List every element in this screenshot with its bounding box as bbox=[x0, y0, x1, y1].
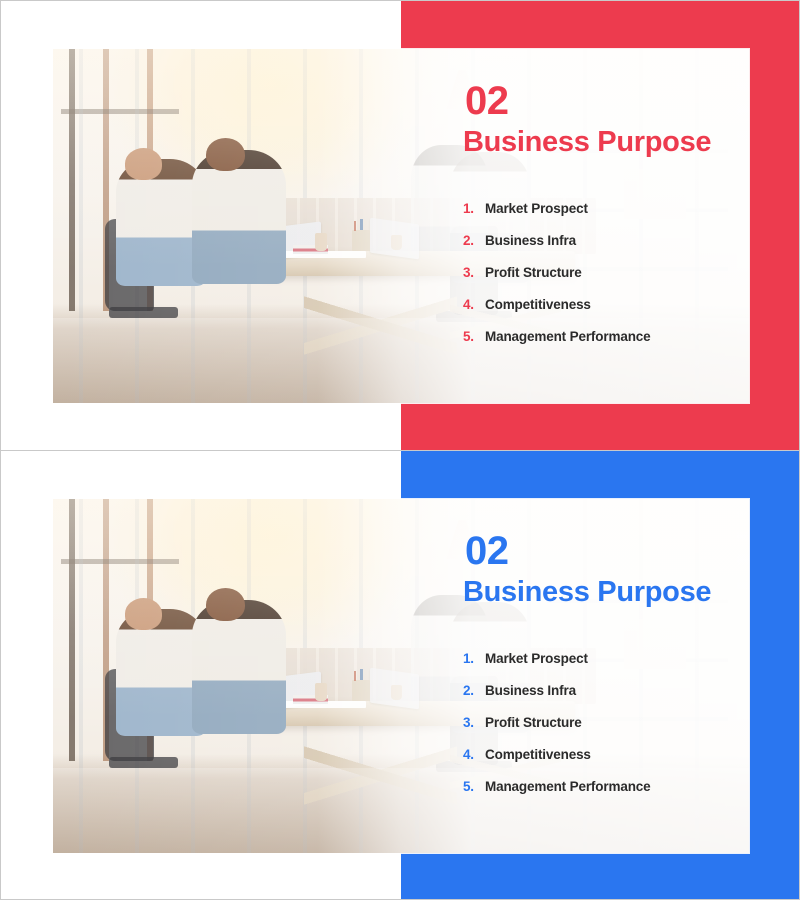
list-item[interactable]: 4. Competitiveness bbox=[463, 747, 753, 762]
list-item[interactable]: 4. Competitiveness bbox=[463, 297, 753, 312]
bullet-label: Market Prospect bbox=[485, 201, 588, 216]
office-chair-left-base bbox=[109, 757, 179, 768]
bullet-list: 1. Market Prospect 2. Business Infra 3. … bbox=[463, 651, 753, 794]
person-left-1-head bbox=[125, 148, 163, 180]
list-item[interactable]: 1. Market Prospect bbox=[463, 651, 753, 666]
list-item[interactable]: 2. Business Infra bbox=[463, 683, 753, 698]
slide-number: 02 bbox=[465, 531, 753, 571]
person-left-2 bbox=[192, 150, 286, 285]
person-left-1-head bbox=[125, 598, 163, 630]
coffee-cup-2 bbox=[391, 235, 402, 251]
bullet-number: 1. bbox=[463, 651, 485, 666]
slide-number: 02 bbox=[465, 81, 753, 121]
bullet-number: 3. bbox=[463, 715, 485, 730]
list-item[interactable]: 5. Management Performance bbox=[463, 329, 753, 344]
bullet-label: Profit Structure bbox=[485, 715, 582, 730]
list-item[interactable]: 5. Management Performance bbox=[463, 779, 753, 794]
bullet-label: Management Performance bbox=[485, 329, 651, 344]
slide-title: Business Purpose bbox=[463, 577, 753, 607]
slide-red[interactable]: 02 Business Purpose 1. Market Prospect 2… bbox=[1, 1, 799, 450]
bullet-number: 1. bbox=[463, 201, 485, 216]
bullet-number: 2. bbox=[463, 683, 485, 698]
bullet-label: Market Prospect bbox=[485, 651, 588, 666]
bullet-list: 1. Market Prospect 2. Business Infra 3. … bbox=[463, 201, 753, 344]
bullet-number: 4. bbox=[463, 297, 485, 312]
bullet-label: Competitiveness bbox=[485, 297, 591, 312]
slide-blue[interactable]: 02 Business Purpose 1. Market Prospect 2… bbox=[1, 451, 799, 900]
bullet-label: Profit Structure bbox=[485, 265, 582, 280]
bullet-number: 3. bbox=[463, 265, 485, 280]
bullet-number: 2. bbox=[463, 233, 485, 248]
coffee-cup-1 bbox=[315, 233, 328, 251]
coffee-cup-2 bbox=[391, 685, 402, 701]
bullet-label: Business Infra bbox=[485, 683, 576, 698]
list-item[interactable]: 3. Profit Structure bbox=[463, 715, 753, 730]
list-item[interactable]: 3. Profit Structure bbox=[463, 265, 753, 280]
bullet-label: Business Infra bbox=[485, 233, 576, 248]
bullet-label: Competitiveness bbox=[485, 747, 591, 762]
list-item[interactable]: 2. Business Infra bbox=[463, 233, 753, 248]
slide-title: Business Purpose bbox=[463, 127, 753, 157]
pen-holder bbox=[352, 680, 370, 701]
bullet-label: Management Performance bbox=[485, 779, 651, 794]
office-chair-left-base bbox=[109, 307, 179, 318]
text-panel-red: 02 Business Purpose 1. Market Prospect 2… bbox=[463, 81, 753, 361]
list-item[interactable]: 1. Market Prospect bbox=[463, 201, 753, 216]
bullet-number: 4. bbox=[463, 747, 485, 762]
text-panel-blue: 02 Business Purpose 1. Market Prospect 2… bbox=[463, 531, 753, 811]
bullet-number: 5. bbox=[463, 779, 485, 794]
coffee-cup-1 bbox=[315, 683, 328, 701]
person-left-2 bbox=[192, 600, 286, 735]
person-left-2-head bbox=[206, 138, 245, 172]
bullet-number: 5. bbox=[463, 329, 485, 344]
slide-canvas: 02 Business Purpose 1. Market Prospect 2… bbox=[0, 0, 800, 900]
pen-holder bbox=[352, 230, 370, 251]
person-left-2-head bbox=[206, 588, 245, 622]
